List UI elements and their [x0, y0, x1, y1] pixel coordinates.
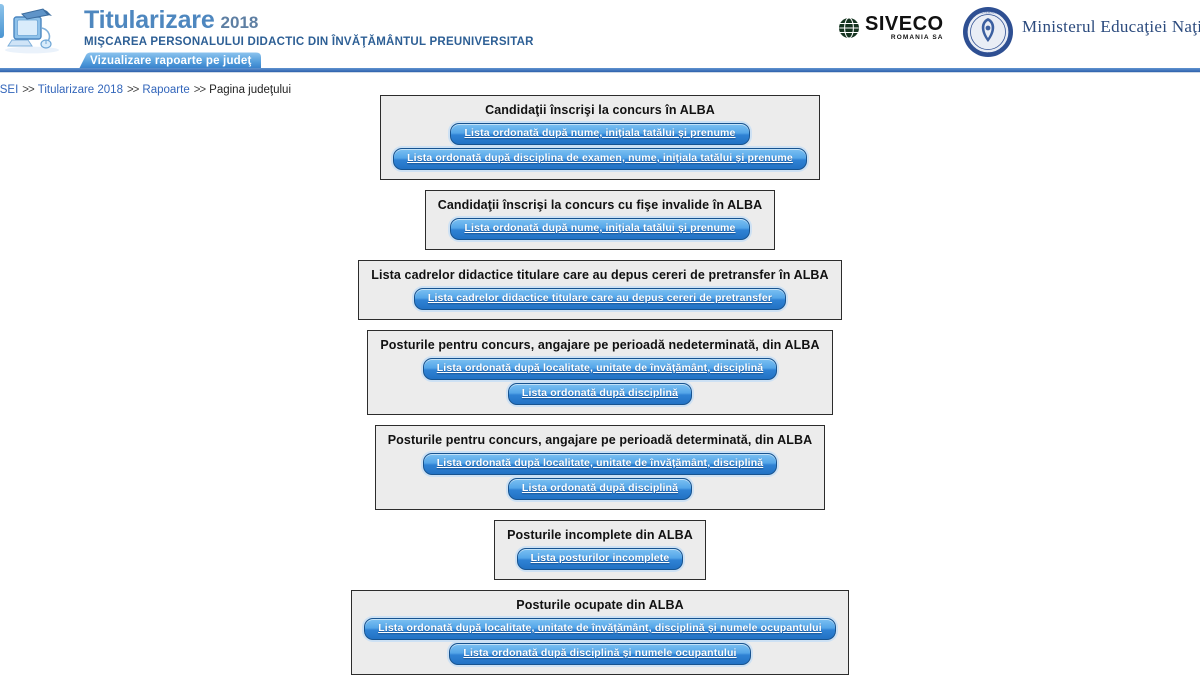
report-list-button-0-1[interactable]: Lista ordonată după disciplina de examen…: [393, 148, 807, 170]
report-list-button-3-0[interactable]: Lista ordonată după localitate, unitate …: [423, 358, 778, 380]
report-button-row: Lista ordonată după nume, iniţiala tatăl…: [438, 218, 763, 240]
report-section-wrapper: Posturile incomplete din ALBALista postu…: [0, 520, 1200, 580]
report-button-row: Lista cadrelor didactice titulare care a…: [371, 288, 828, 310]
tab-label: Vizualizare rapoarte pe judeţ: [90, 55, 252, 67]
report-button-row: Lista ordonată după disciplina de examen…: [393, 148, 807, 170]
app-title: Titularizare: [84, 6, 215, 34]
report-section-0: Candidaţii înscrişi la concurs în ALBALi…: [380, 95, 820, 180]
report-list-button-4-1[interactable]: Lista ordonată după disciplină: [508, 478, 692, 500]
report-section-5: Posturile incomplete din ALBALista postu…: [494, 520, 706, 580]
report-section-wrapper: Posturile ocupate din ALBALista ordonată…: [0, 590, 1200, 675]
report-button-row: Lista ordonată după localitate, unitate …: [388, 453, 812, 475]
report-button-row: Lista ordonată după disciplină: [388, 478, 812, 500]
siveco-globe-icon: [838, 17, 860, 39]
report-section-title: Posturile pentru concurs, angajare pe pe…: [380, 338, 819, 352]
report-button-row: Lista ordonată după localitate, unitate …: [364, 618, 836, 640]
report-section-wrapper: Candidaţii înscrişi la concurs în ALBALi…: [0, 95, 1200, 180]
report-list-button-0-0[interactable]: Lista ordonată după nume, iniţiala tatăl…: [450, 123, 749, 145]
report-section-3: Posturile pentru concurs, angajare pe pe…: [367, 330, 832, 415]
siveco-name: SIVECO: [865, 14, 944, 34]
report-button-row: Lista ordonată după nume, iniţiala tatăl…: [393, 123, 807, 145]
report-section-wrapper: Lista cadrelor didactice titulare care a…: [0, 260, 1200, 320]
report-section-title: Candidaţii înscrişi la concurs în ALBA: [393, 103, 807, 117]
report-section-title: Posturile ocupate din ALBA: [364, 598, 836, 612]
romania-government-seal-icon: GUVERNUL ROMÂNIEI: [962, 6, 1014, 58]
report-section-title: Lista cadrelor didactice titulare care a…: [371, 268, 828, 282]
report-button-row: Lista ordonată după disciplină: [380, 383, 819, 405]
report-section-wrapper: Candidaţii înscrişi la concurs cu fişe i…: [0, 190, 1200, 250]
report-section-title: Candidaţii înscrişi la concurs cu fişe i…: [438, 198, 763, 212]
report-section-4: Posturile pentru concurs, angajare pe pe…: [375, 425, 825, 510]
svg-text:GUVERNUL: GUVERNUL: [979, 11, 997, 15]
report-list-button-6-1[interactable]: Lista ordonată după disciplină şi numele…: [449, 643, 750, 665]
report-section-1: Candidaţii înscrişi la concurs cu fişe i…: [425, 190, 776, 250]
report-button-row: Lista ordonată după disciplină şi numele…: [364, 643, 836, 665]
page-root: Titularizare2018 MIŞCAREA PERSONALULUI D…: [0, 0, 1200, 675]
app-subtitle: MIŞCAREA PERSONALULUI DIDACTIC DIN ÎNVĂŢ…: [84, 36, 534, 48]
computer-monitor-icon: [2, 6, 62, 54]
report-list-button-4-0[interactable]: Lista ordonată după localitate, unitate …: [423, 453, 778, 475]
header-bar-shadow: [0, 72, 1200, 73]
report-list-button-2-0[interactable]: Lista cadrelor didactice titulare care a…: [414, 288, 786, 310]
report-section-wrapper: Posturile pentru concurs, angajare pe pe…: [0, 330, 1200, 415]
report-section-title: Posturile pentru concurs, angajare pe pe…: [388, 433, 812, 447]
report-button-row: Lista posturilor incomplete: [507, 548, 693, 570]
report-list-button-1-0[interactable]: Lista ordonată după nume, iniţiala tatăl…: [450, 218, 749, 240]
report-list-button-3-1[interactable]: Lista ordonată după disciplină: [508, 383, 692, 405]
app-year: 2018: [221, 13, 259, 32]
report-section-2: Lista cadrelor didactice titulare care a…: [358, 260, 841, 320]
report-section-6: Posturile ocupate din ALBALista ordonată…: [351, 590, 849, 675]
ministry-name: Ministerul Educaţiei Naţionale: [1022, 17, 1200, 37]
report-sections: Candidaţii înscrişi la concurs în ALBALi…: [0, 95, 1200, 685]
report-section-title: Posturile incomplete din ALBA: [507, 528, 693, 542]
siveco-logo: SIVECO ROMANIA SA: [838, 14, 944, 42]
report-list-button-5-0[interactable]: Lista posturilor incomplete: [517, 548, 684, 570]
report-section-wrapper: Posturile pentru concurs, angajare pe pe…: [0, 425, 1200, 510]
report-button-row: Lista ordonată după localitate, unitate …: [380, 358, 819, 380]
siveco-subtitle: ROMANIA SA: [865, 35, 944, 42]
brand-block: Titularizare2018 MIŞCAREA PERSONALULUI D…: [84, 8, 534, 48]
report-list-button-6-0[interactable]: Lista ordonată după localitate, unitate …: [364, 618, 836, 640]
